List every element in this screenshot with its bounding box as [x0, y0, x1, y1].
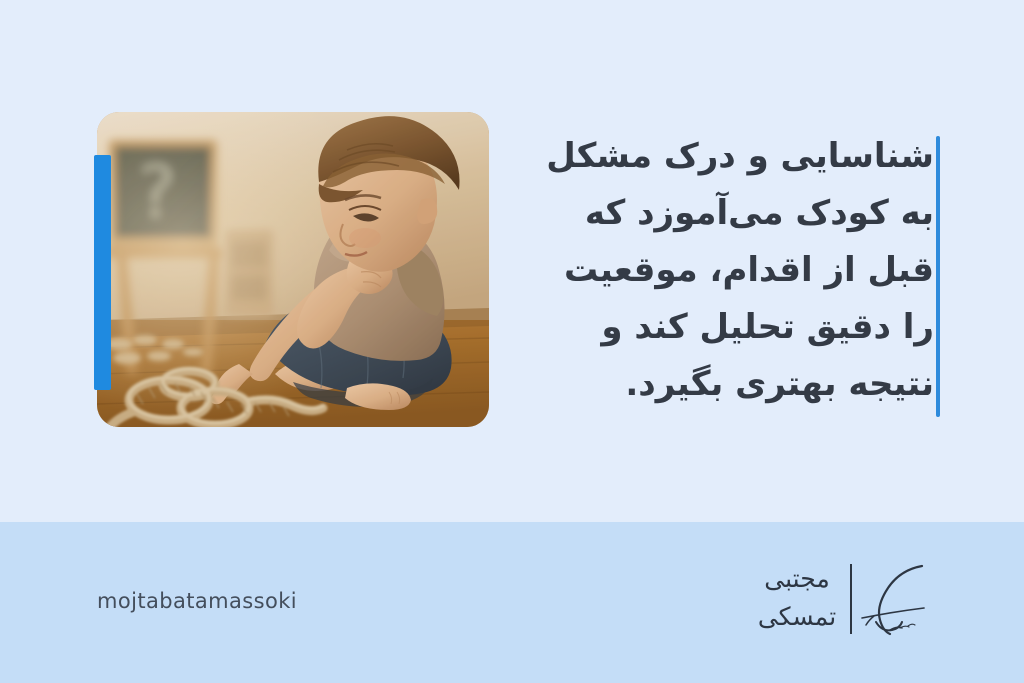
quote-line-1: شناسایی و درک مشکل	[504, 128, 934, 185]
photo-accent-bar	[94, 155, 111, 390]
quote-line-4: را دقیق تحلیل کند و	[504, 299, 934, 356]
signature-mark-icon	[856, 556, 932, 642]
photo-image: ?	[97, 112, 489, 427]
handle-text: mojtabatamassoki	[97, 589, 297, 613]
quote-line-5: نتیجه بهتری بگیرد.	[504, 356, 934, 413]
photo-card: ?	[97, 112, 489, 427]
brand-logo: مجتبی تمسکی	[752, 556, 932, 642]
brand-logo-divider	[850, 564, 852, 634]
social-quote-card: ?	[0, 0, 1024, 683]
brand-name-first: مجتبی	[754, 560, 840, 598]
quote-line-2: به کودک می‌آموزد که	[504, 185, 934, 242]
quote-text: شناسایی و درک مشکل به کودک می‌آموزد که ق…	[504, 128, 934, 413]
quote-line-3: قبل از اقدام، موقعیت	[504, 242, 934, 299]
brand-logo-words: مجتبی تمسکی	[754, 560, 840, 636]
brand-name-last: تمسکی	[754, 598, 840, 636]
quote-accent-rule	[936, 136, 940, 417]
